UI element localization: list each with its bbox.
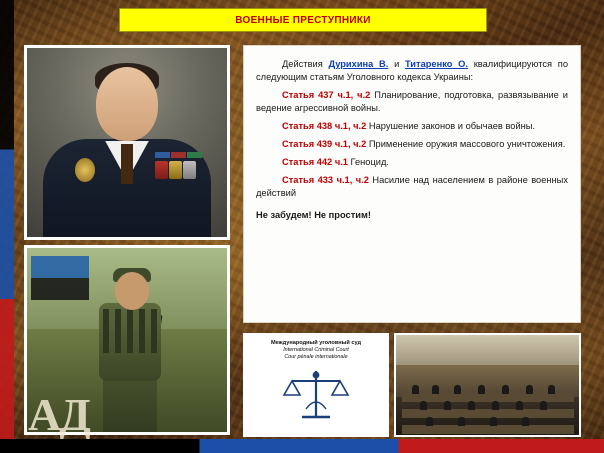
article-label: Статья 439	[282, 139, 332, 149]
courtroom-person	[478, 385, 485, 394]
article-parts: ч.1, ч.2	[332, 121, 366, 131]
article-text: Применение оружия массового уничтожения.	[366, 139, 565, 149]
scales-of-justice-icon	[278, 365, 354, 425]
officer-ribbon-icon	[155, 152, 170, 158]
courtroom-person	[426, 417, 433, 426]
courtroom-bench	[402, 425, 574, 434]
courtroom-person	[526, 385, 533, 394]
officer-medal-icon	[183, 161, 196, 179]
accused-name-1: Дурихина В.	[328, 59, 388, 69]
courtroom-person	[540, 401, 547, 410]
courtroom-person	[516, 401, 523, 410]
courtroom-person	[548, 385, 555, 394]
officer-medal-icon	[155, 161, 168, 179]
accused-name-2: Титаренко О.	[405, 59, 468, 69]
officer-ribbon-icon	[187, 152, 202, 158]
courtroom-person	[468, 401, 475, 410]
slide-title: ВОЕННЫЕ ПРЕСТУПНИКИ	[235, 15, 371, 26]
courtroom-person	[502, 385, 509, 394]
intro-paragraph: Действия Дурихина В. и Титаренко О. квал…	[256, 58, 568, 84]
intro-conjunction: и	[388, 59, 405, 69]
courtroom-person	[454, 385, 461, 394]
article-label: Статья 437	[282, 90, 334, 100]
article-parts: ч.1	[332, 157, 348, 167]
article-item: Статья 438 ч.1, ч.2 Нарушение законов и …	[256, 120, 568, 133]
soldier-face	[115, 272, 149, 310]
officer-face	[96, 67, 158, 141]
article-text: Нарушение законов и обычаев войны.	[366, 121, 535, 131]
article-text: Геноцид.	[348, 157, 389, 167]
courtroom-person	[432, 385, 439, 394]
officer-badge-icon	[75, 158, 95, 182]
icc-logo-caption: Международный уголовный суд Internationa…	[245, 340, 387, 361]
article-parts: ч.1, ч.2	[334, 90, 371, 100]
photo-officer	[24, 45, 230, 240]
article-parts: ч.1, ч.2	[332, 139, 366, 149]
courtroom-person	[458, 417, 465, 426]
slide-title-banner: ВОЕННЫЕ ПРЕСТУПНИКИ	[119, 8, 487, 32]
left-color-strip	[0, 0, 14, 453]
courtroom-person	[412, 385, 419, 394]
intro-lead: Действия	[282, 59, 328, 69]
article-item: Статья 433 ч.1, ч.2 Насилие над населени…	[256, 174, 568, 200]
officer-tie	[121, 144, 133, 184]
article-item: Статья 442 ч.1 Геноцид.	[256, 156, 568, 169]
icc-courtroom-photo	[394, 333, 581, 437]
article-label: Статья 438	[282, 121, 332, 131]
icc-title-en: International Criminal Court	[245, 347, 387, 354]
courtroom-bench	[402, 393, 574, 402]
officer-medal-icon	[169, 161, 182, 179]
article-item: Статья 437 ч.1, ч.2 Планирование, подгот…	[256, 89, 568, 115]
presentation-slide: ВОЕННЫЕ ПРЕСТУПНИКИ АД Действия Дурихина…	[0, 0, 604, 453]
officer-ribbon-icon	[171, 152, 186, 158]
courtroom-person	[492, 401, 499, 410]
article-parts: ч.1, ч.2	[333, 175, 369, 185]
ad-watermark-logo: АД	[28, 392, 102, 442]
bottom-color-strip	[0, 439, 604, 453]
article-text-panel: Действия Дурихина В. и Титаренко О. квал…	[243, 45, 581, 323]
courtroom-ceiling	[396, 335, 579, 369]
icc-title-ru: Международный уголовный суд	[271, 340, 361, 346]
courtroom-person	[420, 401, 427, 410]
courtroom-person	[444, 401, 451, 410]
courtroom-person	[522, 417, 529, 426]
flag-icon	[31, 256, 89, 300]
article-label: Статья 433	[282, 175, 333, 185]
courtroom-person	[490, 417, 497, 426]
slogan-text: Не забудем! Не простим!	[256, 209, 568, 222]
article-item: Статья 439 ч.1, ч.2 Применение оружия ма…	[256, 138, 568, 151]
soldier-vest	[103, 309, 157, 353]
icc-logo-image: Международный уголовный суд Internationa…	[243, 333, 389, 437]
article-label: Статья 442	[282, 157, 332, 167]
icc-title-fr: Cour pénale internationale	[245, 354, 387, 361]
